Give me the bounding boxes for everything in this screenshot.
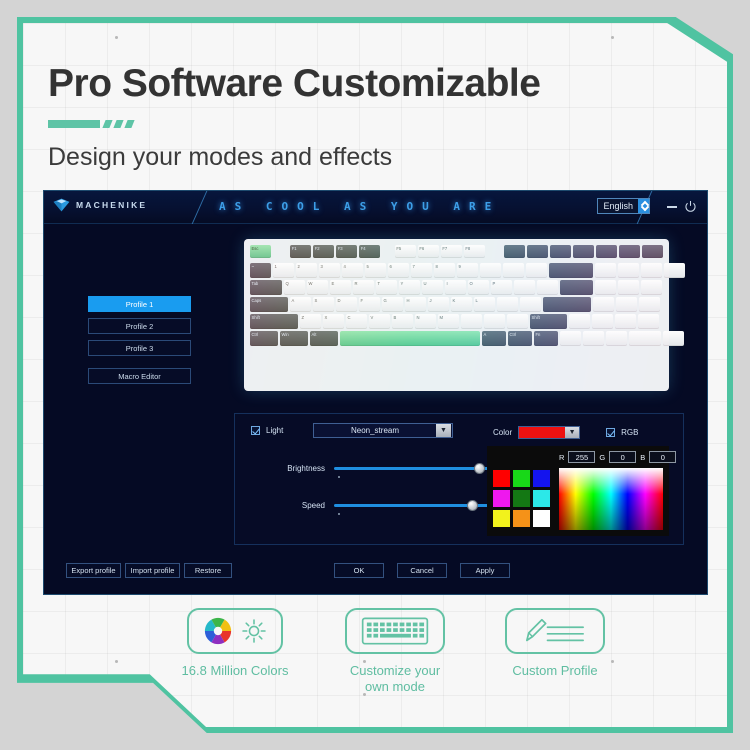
key-b[interactable]: B [392,314,413,329]
key-esc[interactable]: Esc [250,245,271,258]
window-controls [667,200,697,213]
key-rbracket[interactable] [537,280,558,295]
brand-name: MACHENIKE [76,200,147,210]
key-backslash[interactable] [560,280,593,295]
light-label: Light [266,426,283,435]
key-h[interactable]: H [405,297,426,312]
key-nummul[interactable] [641,263,662,278]
key-backspace[interactable] [549,263,593,278]
key-num9[interactable] [641,280,662,295]
key-num4[interactable] [593,297,614,312]
key-num7[interactable] [595,280,616,295]
keyboard-row: Ctrl Win Alt A Ctrl Fn [250,331,663,346]
keyboard-icon [345,608,445,654]
page-subtitle: Design your modes and effects [48,143,392,172]
key-space[interactable] [340,331,480,346]
key-f3[interactable]: F3 [336,245,357,258]
key-f6[interactable]: F6 [418,245,439,258]
keyboard-row: Caps A S D F G H J K L [250,297,663,312]
key-f5[interactable]: F5 [395,245,416,258]
keyboard-row: Tab Q W E R T Y U I O P [250,280,663,295]
b-channel-label: B [640,453,645,462]
profile-button-2[interactable]: Profile 2 [88,318,191,334]
pencil-lines-icon [505,608,605,654]
key-f4[interactable]: F4 [359,245,380,258]
key-minus[interactable] [503,263,524,278]
chevron-down-icon[interactable]: ▼ [565,427,579,438]
key-3[interactable]: 3 [319,263,340,278]
cancel-button[interactable]: Cancel [397,563,447,578]
brand-logo: MACHENIKE [52,197,147,213]
key-numsub[interactable] [664,263,685,278]
keyboard-glyph-icon [361,616,429,646]
profile-list: Profile 1 Profile 2 Profile 3 [88,296,191,362]
key-ralt[interactable]: A [482,331,506,346]
key-prtsc[interactable] [596,245,617,258]
key-rctrl[interactable]: Ctrl [508,331,532,346]
minimize-icon[interactable] [667,206,677,208]
rgb-checkbox-icon[interactable] [606,428,615,437]
key-fn[interactable]: Fn [534,331,558,346]
key-e[interactable]: E [330,280,351,295]
key-num8[interactable] [618,280,639,295]
key-capslock[interactable]: Caps [250,297,288,312]
macro-editor-button[interactable]: Macro Editor [88,368,191,384]
key-6[interactable]: 6 [388,263,409,278]
key-enter[interactable] [543,297,591,312]
key-scrlk[interactable] [619,245,640,258]
key-7[interactable]: 7 [411,263,432,278]
key-8[interactable]: 8 [434,263,455,278]
key-f12[interactable] [573,245,594,258]
key-w[interactable]: W [307,280,328,295]
grid-dot [611,36,614,39]
key-c[interactable]: C [346,314,367,329]
key-period[interactable] [484,314,505,329]
color-wheel-brightness-icon [187,608,283,654]
profile-button-3[interactable]: Profile 3 [88,340,191,356]
key-num0[interactable] [629,331,661,346]
palette-swatch[interactable] [533,470,550,487]
g-channel-label: G [599,453,605,462]
color-controls: Color ▼ RGB [493,426,638,439]
color-swatch-current[interactable] [519,427,565,438]
key-arrow-right[interactable] [606,331,627,346]
key-arrow-down[interactable] [583,331,604,346]
b-channel-input[interactable]: 0 [649,451,676,463]
key-arrow-left[interactable] [560,331,581,346]
effect-mode-dropdown[interactable]: Neon_stream ▼ [313,423,453,438]
key-y[interactable]: Y [399,280,420,295]
key-x[interactable]: X [323,314,344,329]
page-title: Pro Software Customizable [48,62,540,106]
keyboard-row: Shift Z X C V B N M Shift [250,314,663,329]
key-i[interactable]: I [445,280,466,295]
brightness-slider-thumb[interactable] [474,463,485,474]
key-t[interactable]: T [376,280,397,295]
r-channel-label: R [559,453,564,462]
palette-swatch[interactable] [493,470,510,487]
ok-button[interactable]: OK [334,563,384,578]
pencil-write-icon [521,616,589,646]
light-toggle[interactable]: Light [251,426,283,435]
key-v[interactable]: V [369,314,390,329]
key-lbracket[interactable] [514,280,535,295]
key-2[interactable]: 2 [296,263,317,278]
g-channel-input[interactable]: 0 [609,451,636,463]
key-1[interactable]: 1 [273,263,294,278]
key-n[interactable]: N [415,314,436,329]
spinner-updown-icon[interactable] [638,199,649,213]
palette-swatch[interactable] [493,510,510,527]
color-palette-grid [493,470,550,527]
hue-saturation-gradient[interactable] [559,468,663,530]
feature-label: Customize your own mode [350,663,440,696]
export-profile-button[interactable]: Export profile [66,563,121,578]
palette-swatch[interactable] [513,490,530,507]
key-d[interactable]: D [336,297,357,312]
page-root: Pro Software Customizable Design your mo… [0,0,750,750]
key-f[interactable]: F [359,297,380,312]
brightness-label: Brightness [251,464,325,473]
key-lctrl[interactable]: Ctrl [250,331,278,346]
restore-button[interactable]: Restore [184,563,232,578]
key-u[interactable]: U [422,280,443,295]
feature-label: 16.8 Million Colors [182,663,289,679]
key-f9[interactable] [504,245,525,258]
color-label: Color [493,428,512,437]
keyboard-preview[interactable]: Esc F1 F2 F3 F4 F5 F6 F7 F8 [244,239,669,391]
key-l[interactable]: L [474,297,495,312]
software-window: MACHENIKE AS COOL AS YOU ARE English Esc [43,190,708,595]
profile-button-1[interactable]: Profile 1 [88,296,191,312]
key-quote[interactable] [520,297,541,312]
speed-slider-thumb[interactable] [467,500,478,511]
key-s[interactable]: S [313,297,334,312]
key-o[interactable]: O [468,280,489,295]
key-semicolon[interactable] [497,297,518,312]
key-f11[interactable] [550,245,571,258]
key-num2[interactable] [615,314,636,329]
feature-label: Custom Profile [512,663,597,679]
key-numdel[interactable] [663,331,684,346]
import-profile-button[interactable]: Import profile [125,563,180,578]
key-p[interactable]: P [491,280,512,295]
key-num1[interactable] [592,314,613,329]
titlebar-slogan: AS COOL AS YOU ARE [219,200,500,213]
palette-swatch[interactable] [513,510,530,527]
key-k[interactable]: K [451,297,472,312]
key-tilde[interactable]: ~ [250,263,271,278]
key-tab[interactable]: Tab [250,280,282,295]
key-r[interactable]: R [353,280,374,295]
key-a[interactable]: A [290,297,311,312]
palette-swatch[interactable] [533,490,550,507]
apply-button[interactable]: Apply [460,563,510,578]
key-f7[interactable]: F7 [441,245,462,258]
r-channel-input[interactable]: 255 [568,451,595,463]
accent-divider [48,120,133,128]
key-5[interactable]: 5 [365,263,386,278]
keyboard-row: ~ 1 2 3 4 5 6 7 8 9 [250,263,663,278]
key-f8[interactable]: F8 [464,245,485,258]
key-rshift[interactable]: Shift [530,314,567,329]
grid-dot [115,660,118,663]
key-num3[interactable] [638,314,659,329]
key-num5[interactable] [616,297,637,312]
palette-swatch[interactable] [533,510,550,527]
key-slash[interactable] [507,314,528,329]
palette-swatch[interactable] [513,470,530,487]
color-picker-area: R 255 G 0 B 0 [487,446,669,536]
key-f1[interactable]: F1 [290,245,311,258]
grid-dot [115,36,118,39]
speed-label: Speed [251,501,325,510]
effect-mode-value: Neon_stream [314,426,436,435]
key-f2[interactable]: F2 [313,245,334,258]
window-titlebar: MACHENIKE AS COOL AS YOU ARE English [44,191,707,224]
key-4[interactable]: 4 [342,263,363,278]
key-m[interactable]: M [438,314,459,329]
key-win[interactable]: Win [280,331,308,346]
key-equals[interactable] [526,263,547,278]
key-q[interactable]: Q [284,280,305,295]
power-icon[interactable] [684,200,697,213]
feature-custom-mode: Customize your own mode [320,608,470,696]
key-z[interactable]: Z [300,314,321,329]
rgb-value-fields: R 255 G 0 B 0 [559,451,676,463]
chevron-down-icon[interactable]: ▼ [436,424,451,437]
key-numlock[interactable] [595,263,616,278]
feature-custom-profile: Custom Profile [480,608,630,679]
key-num6[interactable] [639,297,660,312]
language-selector[interactable]: English [597,198,650,214]
key-9[interactable]: 9 [457,263,478,278]
key-j[interactable]: J [428,297,449,312]
brightness-sun-icon [241,618,267,644]
key-0[interactable] [480,263,501,278]
key-arrow-up[interactable] [569,314,590,329]
key-pause[interactable] [642,245,663,258]
key-lshift[interactable]: Shift [250,314,298,329]
palette-swatch[interactable] [493,490,510,507]
feature-highlights: 16.8 Million Colors [160,608,630,696]
checkbox-icon[interactable] [251,426,260,435]
key-comma[interactable] [461,314,482,329]
key-g[interactable]: G [382,297,403,312]
feature-colors: 16.8 Million Colors [160,608,310,679]
key-lalt[interactable]: Alt [310,331,338,346]
color-dropdown[interactable]: ▼ [518,426,580,439]
color-wheel-icon [203,616,233,646]
key-numdiv[interactable] [618,263,639,278]
key-f10[interactable] [527,245,548,258]
rgb-label: RGB [621,428,638,437]
language-value: English [598,199,638,213]
diamond-gem-icon [52,197,71,213]
keyboard-row: Esc F1 F2 F3 F4 F5 F6 F7 F8 [250,245,663,258]
keyboard-body: Esc F1 F2 F3 F4 F5 F6 F7 F8 [244,239,669,391]
lighting-settings-panel: Light Neon_stream ▼ Brightness 3 Speed [234,413,684,545]
